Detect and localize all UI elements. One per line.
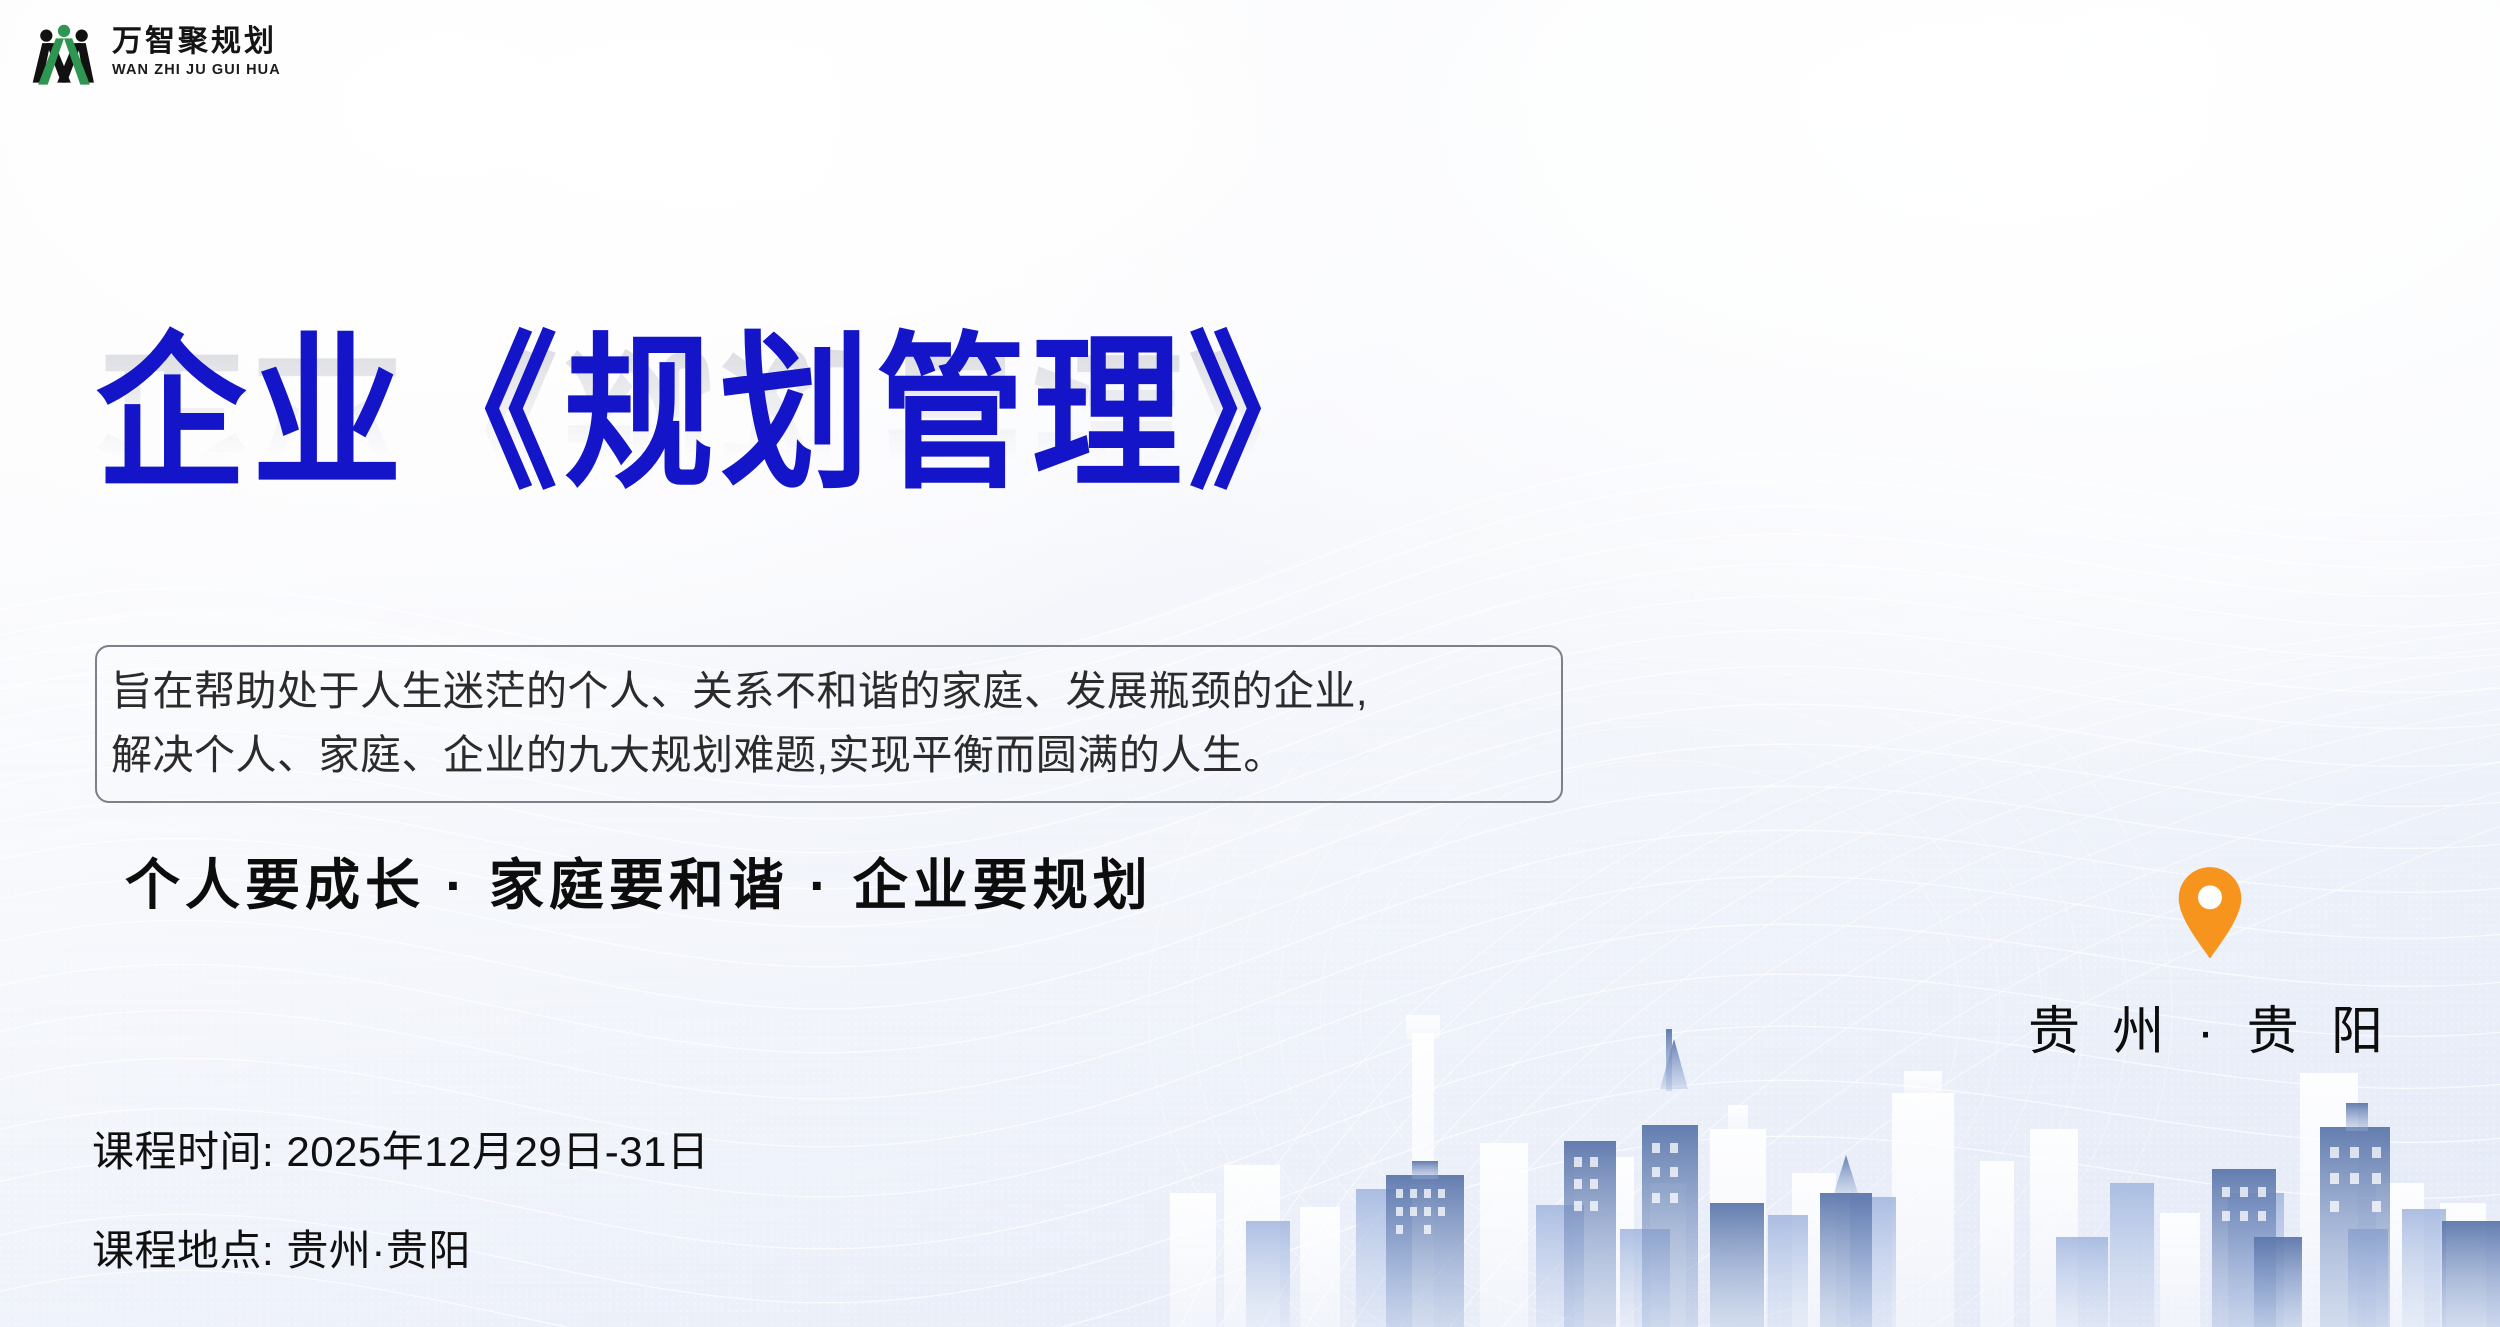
brand-text: 万智聚规划 WAN ZHI JU GUI HUA [112,27,281,78]
hero-title-block: 企业《规划管理》 企业《规划管理》 [96,330,1696,480]
course-time-row: 课程时间: 2025年12月29日-31日 [92,1118,709,1179]
course-place-row: 课程地点: 贵州·贵阳 [92,1217,709,1278]
brand-logo: 万智聚规划 WAN ZHI JU GUI HUA [30,18,281,86]
slogan-text: 个人要成长 · 家庭要和谐 · 企业要规划 [125,840,1153,920]
description-line-2: 解决个人、家庭、企业的九大规划难题,实现平衡而圆满的人生。 [111,724,1547,788]
description-line-1: 旨在帮助处于人生迷茫的个人、关系不和谐的家庭、发展瓶颈的企业, [111,660,1547,724]
description-box: 旨在帮助处于人生迷茫的个人、关系不和谐的家庭、发展瓶颈的企业, 解决个人、家庭、… [95,645,1563,803]
location-label: 贵 州 · 贵 阳 [1960,989,2460,1064]
course-info-block: 课程时间: 2025年12月29日-31日 课程地点: 贵州·贵阳 [92,1118,709,1278]
location-block: 贵 州 · 贵 阳 [1960,865,2460,1064]
brand-name-pinyin: WAN ZHI JU GUI HUA [112,63,281,78]
brand-name-cn: 万智聚规划 [112,27,281,57]
three-people-logo-icon [30,18,98,86]
poster-canvas: 万智聚规划 WAN ZHI JU GUI HUA 企业《规划管理》 企业《规划管… [0,0,2500,1327]
hero-title: 企业《规划管理》 [96,330,1696,498]
map-pin-icon [2176,865,2244,961]
